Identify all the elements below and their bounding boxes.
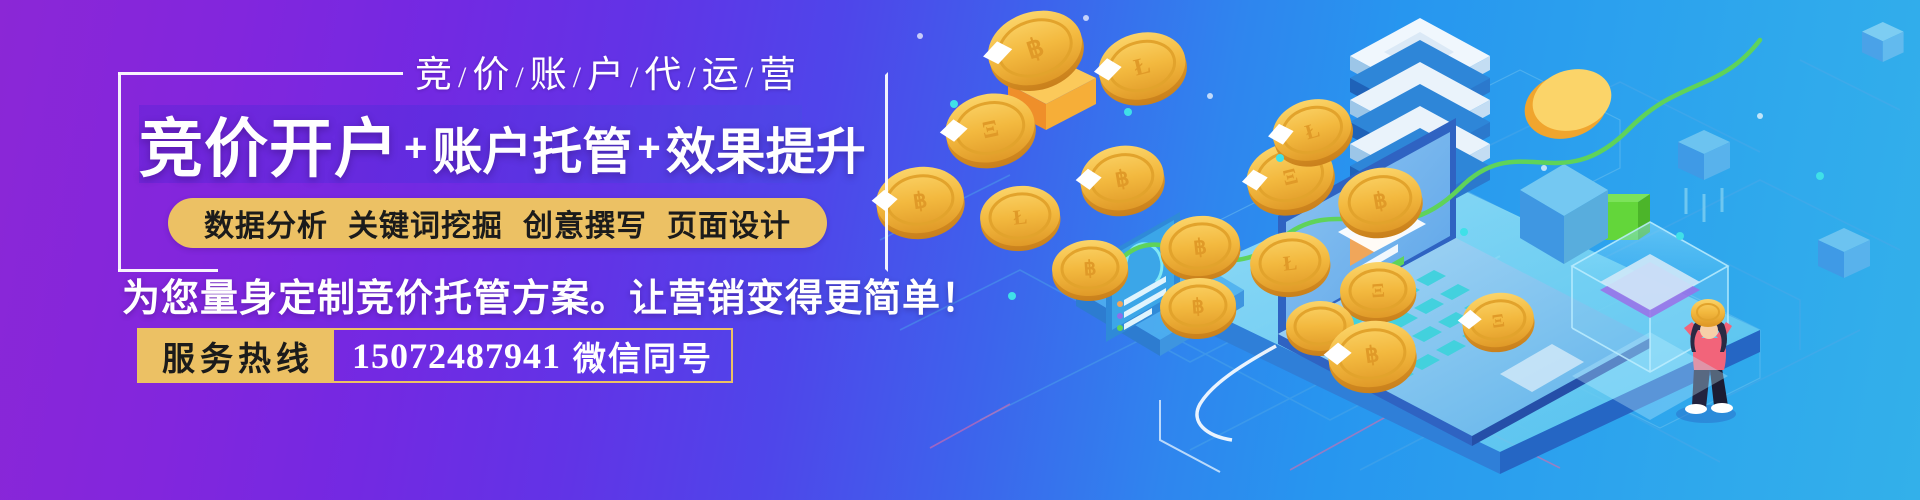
eyebrow-sep-1: / [511, 61, 529, 94]
headline-primary: 竞价开户 [139, 98, 399, 190]
service-item-2: 创意撰写 [513, 201, 657, 245]
eyebrow-char-6: 营 [759, 55, 798, 96]
svg-text:฿: ฿ [1083, 258, 1097, 281]
headline-plus-2: + [632, 126, 665, 171]
isometric-illustration: ฿ Ł Ξ [860, 0, 1920, 500]
bracket-top-rule [118, 72, 403, 75]
eyebrow-char-2: 账 [530, 55, 569, 96]
illustration-svg: ฿ Ł Ξ [860, 0, 1920, 500]
hotline-bar: 服务热线 15072487941 微信同号 [137, 328, 733, 383]
svg-text:฿: ฿ [1191, 296, 1205, 319]
headline-secondary: 账户托管 [432, 112, 632, 184]
eyebrow-sep-2: / [569, 61, 587, 94]
svg-text:Ł: Ł [1012, 204, 1028, 229]
hotline-label: 服务热线 [137, 328, 334, 383]
headline-tertiary: 效果提升 [666, 112, 866, 184]
service-item-0: 数据分析 [194, 201, 338, 245]
eyebrow-sep-3: / [626, 61, 644, 94]
eyebrow-char-5: 运 [702, 55, 741, 96]
eyebrow-char-1: 价 [472, 55, 511, 96]
banner-content: 竞/价/账/户/代/运/营 竞价开户 + 账户托管 + 效果提升 数据分析 关键… [0, 0, 940, 500]
phone-number: 15072487941 [352, 335, 561, 377]
eyebrow-char-4: 代 [644, 55, 683, 96]
service-item-3: 页面设计 [657, 201, 801, 245]
headline-plus-1: + [399, 126, 432, 171]
eyebrow-sep-4: / [683, 61, 701, 94]
tagline: 为您量身定制竞价托管方案。让营销变得更简单！ [122, 267, 980, 322]
svg-text:฿: ฿ [1192, 234, 1208, 259]
eyebrow-text: 竞/价/账/户/代/运/营 [415, 44, 798, 98]
wechat-note: 微信同号 [561, 332, 713, 380]
eyebrow-sep-0: / [454, 61, 472, 94]
eyebrow-char-0: 竞 [415, 55, 454, 96]
eyebrow-sep-5: / [741, 61, 759, 94]
promo-banner: ฿ Ł Ξ [0, 0, 1920, 500]
headline: 竞价开户 + 账户托管 + 效果提升 [139, 103, 866, 185]
hotline-number-box[interactable]: 15072487941 微信同号 [334, 328, 733, 383]
services-pill: 数据分析 关键词挖掘 创意撰写 页面设计 [168, 198, 827, 248]
eyebrow-char-3: 户 [587, 55, 626, 96]
svg-text:Ł: Ł [1282, 250, 1298, 275]
svg-text:Ξ: Ξ [1371, 280, 1386, 303]
service-item-1: 关键词挖掘 [338, 201, 513, 245]
